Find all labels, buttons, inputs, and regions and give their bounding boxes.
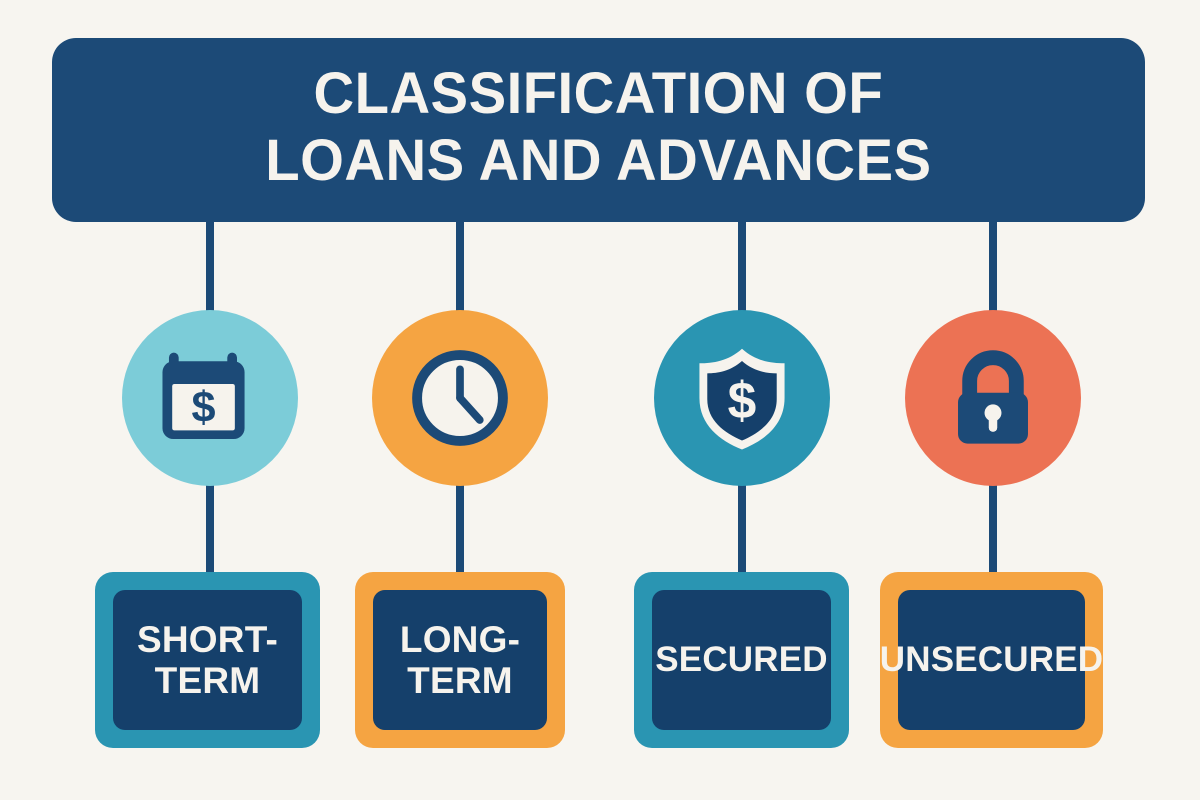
connector-icon-to-card-long-term — [456, 485, 464, 575]
calendar-dollar-icon: $ — [156, 344, 264, 452]
card-label-secured: SECURED — [655, 640, 828, 679]
connector-header-to-icon-unsecured — [989, 220, 997, 322]
page-title: CLASSIFICATION OF LOANS AND ADVANCES — [265, 60, 931, 195]
icon-circle-short-term: $ — [122, 310, 298, 486]
header-banner: CLASSIFICATION OF LOANS AND ADVANCES — [52, 38, 1145, 222]
connector-header-to-icon-long-term — [456, 220, 464, 322]
infographic-canvas: CLASSIFICATION OF LOANS AND ADVANCES $ — [0, 0, 1200, 800]
card-secured[interactable]: SECURED — [634, 572, 849, 748]
icon-circle-secured: $ — [654, 310, 830, 486]
connector-icon-to-card-secured — [738, 485, 746, 575]
padlock-icon — [940, 345, 1046, 451]
card-label-short-term: SHORT- TERM — [137, 619, 278, 702]
connector-header-to-icon-secured — [738, 220, 746, 322]
connector-icon-to-card-short-term — [206, 485, 214, 575]
connector-header-to-icon-short-term — [206, 220, 214, 322]
shield-dollar-icon: $ — [686, 342, 798, 454]
icon-circle-long-term — [372, 310, 548, 486]
card-inner-panel: SECURED — [652, 590, 831, 730]
clock-icon — [405, 343, 515, 453]
card-unsecured[interactable]: UNSECURED — [880, 572, 1103, 748]
svg-text:$: $ — [192, 384, 216, 432]
card-short-term[interactable]: SHORT- TERM — [95, 572, 320, 748]
card-long-term[interactable]: LONG- TERM — [355, 572, 565, 748]
card-inner-panel: SHORT- TERM — [113, 590, 302, 730]
connector-icon-to-card-unsecured — [989, 485, 997, 575]
card-label-long-term: LONG- TERM — [400, 619, 520, 702]
card-inner-panel: LONG- TERM — [373, 590, 547, 730]
card-label-unsecured: UNSECURED — [880, 640, 1104, 679]
icon-circle-unsecured — [905, 310, 1081, 486]
svg-text:$: $ — [728, 371, 757, 429]
card-inner-panel: UNSECURED — [898, 590, 1085, 730]
